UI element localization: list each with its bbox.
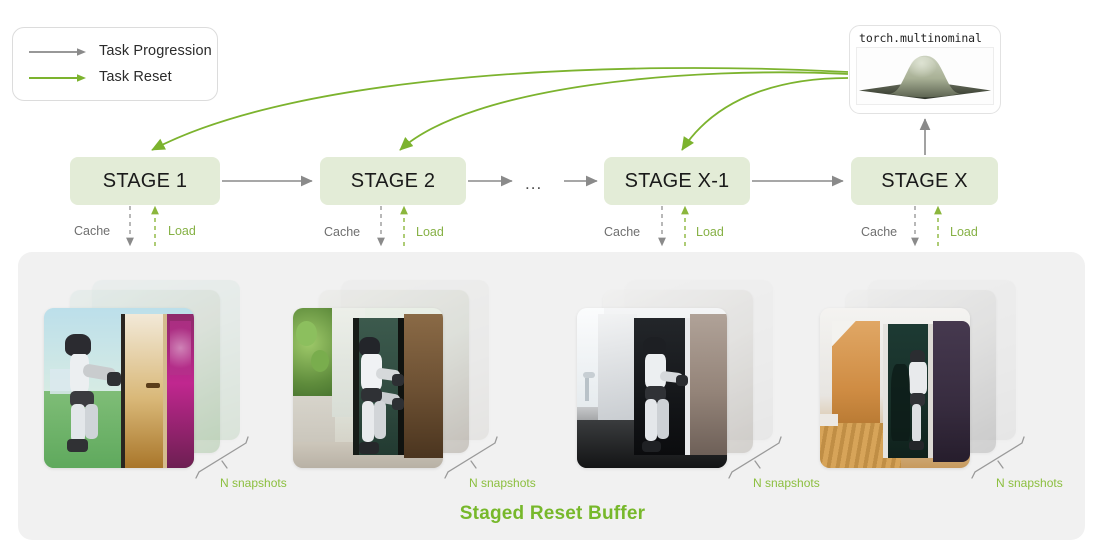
load-label-1: Load: [168, 225, 196, 238]
robot-door-scene-4: [820, 308, 970, 468]
cache-label-2: Cache: [324, 226, 360, 239]
snapshot-card-front: [820, 308, 970, 468]
snapshot-card-front: [293, 308, 443, 468]
stage-box-x-minus-1[interactable]: STAGE X-1: [604, 157, 750, 205]
cache-load-arrows: [130, 206, 938, 246]
stage-label-x-minus-1: STAGE X-1: [625, 170, 730, 193]
snapshot-card-front: [577, 308, 727, 468]
stage-box-1[interactable]: STAGE 1: [70, 157, 220, 205]
snapshot-stack-3[interactable]: N snapshots: [565, 280, 780, 470]
diagram-root: Task Progression Task Reset torch.multin…: [0, 0, 1105, 554]
cache-label-1: Cache: [74, 225, 110, 238]
robot-door-scene-3: [577, 308, 727, 468]
load-label-x: Load: [950, 226, 978, 239]
snapshots-label-2: N snapshots: [469, 476, 536, 490]
snapshots-label-1: N snapshots: [220, 476, 287, 490]
legend-label-task-reset: Task Reset: [99, 69, 172, 85]
snapshot-card-front: [44, 308, 194, 468]
robot-door-scene-2: [293, 308, 443, 468]
stage-label-x: STAGE X: [881, 170, 968, 193]
legend-item-task-reset: Task Reset: [29, 64, 217, 90]
sampler-title: torch.multinominal: [856, 31, 994, 45]
robot-door-scene-1: [44, 308, 194, 468]
snapshots-label-3: N snapshots: [753, 476, 820, 490]
stage-ellipsis: ...: [525, 175, 542, 192]
load-label-2: Load: [416, 226, 444, 239]
stage-box-2[interactable]: STAGE 2: [320, 157, 466, 205]
sampler-card: torch.multinominal: [849, 25, 1001, 114]
stage-box-x[interactable]: STAGE X: [851, 157, 998, 205]
snapshot-stack-1[interactable]: N snapshots: [32, 280, 247, 470]
legend-label-task-progression: Task Progression: [99, 43, 212, 59]
gaussian-surface-plot: [856, 47, 994, 105]
reset-curves: [152, 68, 848, 150]
arrow-line-gray-icon: [29, 45, 89, 57]
cache-label-x-minus-1: Cache: [604, 226, 640, 239]
arrow-line-green-icon: [29, 71, 89, 83]
snapshot-stack-2[interactable]: N snapshots: [281, 280, 496, 470]
legend-item-task-progression: Task Progression: [29, 38, 217, 64]
load-label-x-minus-1: Load: [696, 226, 724, 239]
snapshots-label-4: N snapshots: [996, 476, 1063, 490]
legend: Task Progression Task Reset: [12, 27, 218, 101]
stage-label-2: STAGE 2: [351, 170, 435, 193]
buffer-caption: Staged Reset Buffer: [0, 503, 1105, 525]
stage-label-1: STAGE 1: [103, 170, 187, 193]
snapshot-stack-4[interactable]: N snapshots: [808, 280, 1023, 470]
cache-label-x: Cache: [861, 226, 897, 239]
